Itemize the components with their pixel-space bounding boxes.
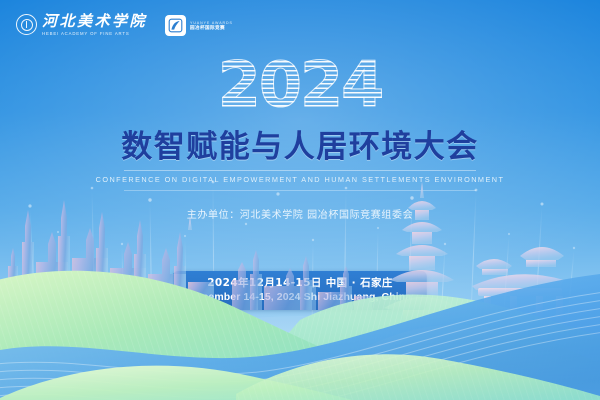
logo-hebei-cn: 河北美术学院: [42, 14, 147, 29]
hero-year-wrap: 2024: [0, 54, 600, 116]
logo-hebei-academy[interactable]: 河北美术学院 HEBEI ACADEMY OF FINE ARTS: [16, 14, 147, 36]
abstract-leaf-mark-icon: [165, 15, 186, 36]
logo-hebei-text: 河北美术学院 HEBEI ACADEMY OF FINE ARTS: [42, 14, 147, 36]
european-castle-secondary: [232, 250, 372, 310]
logo-yuanye-text: YUANYE AWARDS 园冶杯国际竞赛: [190, 20, 233, 31]
chinese-pagoda: [188, 216, 192, 230]
logo-hebei-en: HEBEI ACADEMY OF FINE ARTS: [42, 32, 147, 36]
header-logos: 河北美术学院 HEBEI ACADEMY OF FINE ARTS YUANYE…: [0, 0, 600, 50]
conference-banner: 河北美术学院 HEBEI ACADEMY OF FINE ARTS YUANYE…: [0, 0, 600, 400]
logo-yuanye-cn: 园冶杯国际竞赛: [190, 25, 233, 30]
hero-year: 2024: [218, 48, 383, 121]
page-title: 数智赋能与人居环境大会: [0, 128, 600, 167]
circular-seal-icon: [16, 14, 37, 35]
landscape-scene: [0, 170, 600, 400]
logo-yuanye-cup[interactable]: YUANYE AWARDS 园冶杯国际竞赛: [165, 15, 233, 36]
